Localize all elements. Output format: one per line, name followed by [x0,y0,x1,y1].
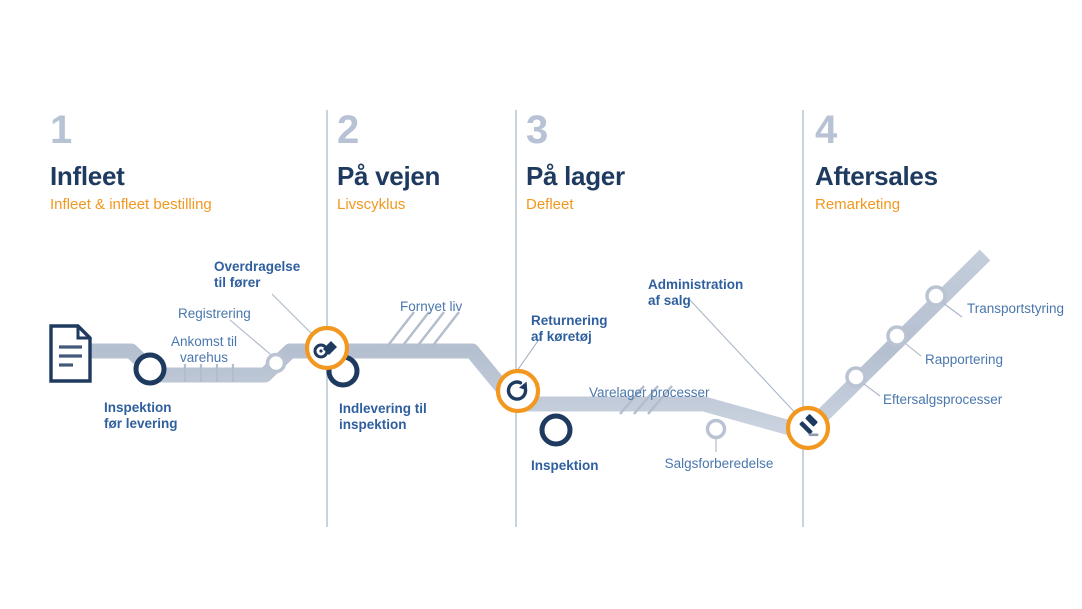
column-3-number: 3 [526,110,625,150]
column-4-title: Aftersales [815,162,938,191]
label-sales-preparation: Salgsforberedelse [661,456,777,472]
tick-marks-renewed-life [386,312,459,348]
column-3-title: På lager [526,162,625,191]
document-icon [51,326,90,381]
column-3-header: 3 På lager Defleet [526,110,625,214]
column-4-number: 4 [815,110,938,150]
label-inspection: Inspektion [531,458,641,474]
node-aftersales-processes[interactable] [847,368,865,386]
node-transport-management[interactable] [927,287,945,305]
process-flow-graphic [0,0,1082,609]
column-2-header: 2 På vejen Livscyklus [337,110,440,214]
label-delivery-for-inspection: Indlevering til inspektion [339,401,461,434]
label-transport-management: Transportstyring [967,301,1082,317]
label-vehicle-return: Returnering af køretøj [531,313,641,346]
node-vehicle-return[interactable] [498,371,538,411]
column-3-subtitle: Defleet [526,196,625,214]
label-registration: Registrering [178,306,288,322]
column-4-subtitle: Remarketing [815,196,938,214]
node-inspection[interactable] [542,416,570,444]
label-arrival-warehouse: Ankomst til varehus [152,334,256,367]
node-sales-preparation[interactable] [708,421,725,438]
label-warehouse-processes: Varelager processer [589,385,759,401]
column-1-title: Infleet [50,162,212,191]
node-handover-to-driver[interactable] [307,328,347,368]
label-sales-administration: Administration af salg [648,277,778,310]
label-renewed-life: Fornyet liv [400,299,500,315]
label-reporting: Rapportering [925,352,1045,368]
column-2-title: På vejen [337,162,440,191]
column-2-number: 2 [337,110,440,150]
column-1-subtitle: Infleet & infleet bestilling [50,196,212,214]
label-inspection-before-delivery: Inspektion før levering [104,400,224,433]
label-handover-to-driver: Overdragelse til fører [214,259,328,292]
label-aftersales-processes: Eftersalgsprocesser [883,392,1023,408]
node-registration[interactable] [268,355,285,372]
node-reporting[interactable] [888,327,906,345]
column-1-number: 1 [50,110,212,150]
column-4-header: 4 Aftersales Remarketing [815,110,938,214]
column-2-subtitle: Livscyklus [337,196,440,214]
diagram-canvas: 1 Infleet Infleet & infleet bestilling 2… [0,0,1082,609]
column-1-header: 1 Infleet Infleet & infleet bestilling [50,110,212,214]
node-sales-administration[interactable] [788,408,828,448]
